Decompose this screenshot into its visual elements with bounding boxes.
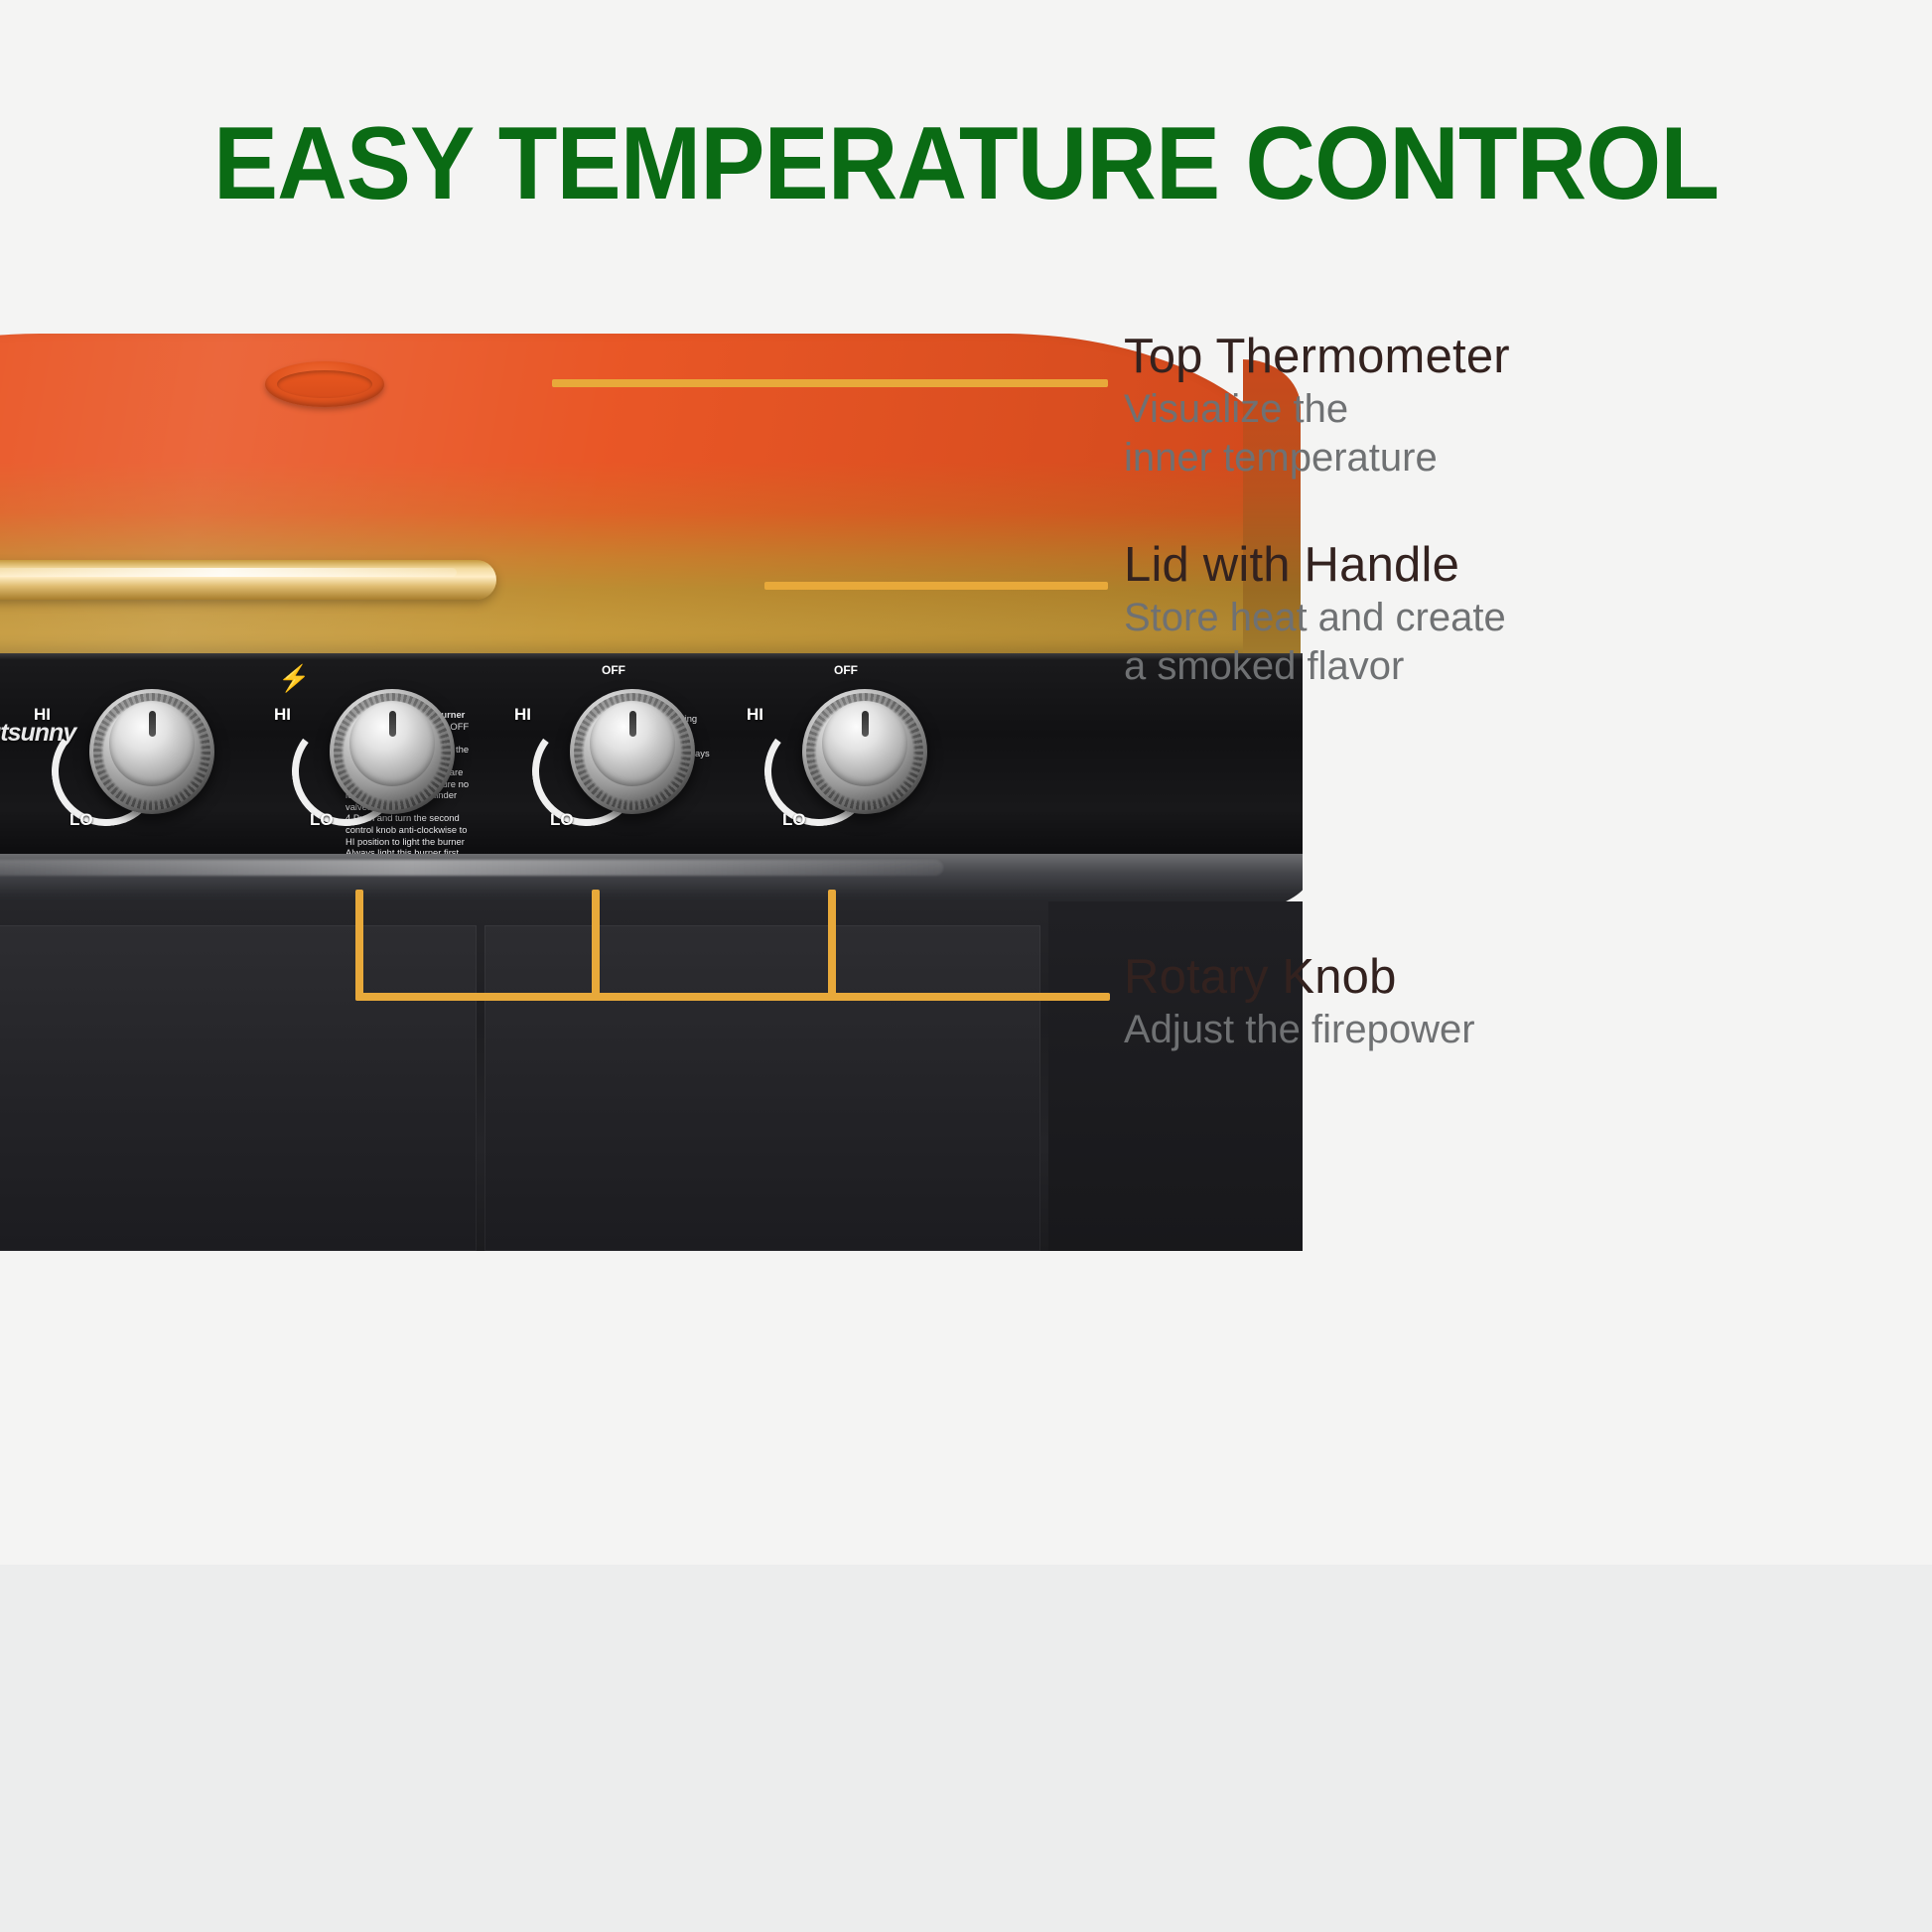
- leader-line-knob-v3: [828, 890, 836, 1001]
- callout-body-line-1: Adjust the firepower: [1124, 1006, 1475, 1054]
- knob-face: [590, 701, 675, 786]
- knob-pointer: [389, 711, 396, 737]
- infographic-canvas: EASY TEMPERATURE CONTROL utsunny easy.: [0, 0, 1932, 1932]
- control-panel-edge: [0, 653, 1303, 660]
- callout-body-line-2: inner temperature: [1124, 434, 1510, 483]
- knob-pointer: [149, 711, 156, 737]
- cart-rail-highlight: [0, 860, 943, 876]
- callout-heading: Rotary Knob: [1124, 948, 1475, 1006]
- page-title: EASY TEMPERATURE CONTROL: [58, 105, 1873, 223]
- rotary-knob-1[interactable]: HI LO: [77, 683, 226, 832]
- cabinet-door-right: [484, 925, 1040, 1251]
- lid-handle: [0, 560, 496, 600]
- callout-top-thermometer: Top Thermometer Visualize the inner temp…: [1124, 328, 1510, 483]
- handle-highlight: [0, 568, 457, 577]
- leader-line-knob-v2: [592, 890, 600, 1001]
- rotary-knob-4[interactable]: OFF HI LO: [790, 683, 939, 832]
- knob-face: [822, 701, 907, 786]
- knob-pointer: [629, 711, 636, 737]
- knob-hi-label: HI: [514, 705, 531, 725]
- callout-body-line-1: Store heat and create: [1124, 594, 1506, 642]
- knob-pointer: [862, 711, 869, 737]
- knob-hi-label: HI: [747, 705, 763, 725]
- knob-hi-label: HI: [274, 705, 291, 725]
- rotary-knob-2[interactable]: ⚡ HI LO: [318, 683, 467, 832]
- leader-line-thermometer: [552, 379, 1108, 387]
- callout-heading: Top Thermometer: [1124, 328, 1510, 385]
- callout-lid-with-handle: Lid with Handle Store heat and create a …: [1124, 536, 1506, 691]
- leader-line-knob-horizontal: [355, 993, 1110, 1001]
- cabinet-door-left: [0, 925, 477, 1251]
- callout-heading: Lid with Handle: [1124, 536, 1506, 594]
- rotary-knob-3[interactable]: OFF HI LO: [558, 683, 707, 832]
- knob-off-label: OFF: [602, 663, 625, 677]
- knob-hi-label: HI: [34, 705, 51, 725]
- leader-line-knob-v1: [355, 890, 363, 1001]
- leader-line-lid-handle: [764, 582, 1108, 590]
- knob-lo-label: LO: [310, 810, 334, 830]
- ignition-spark-icon: ⚡: [278, 663, 310, 694]
- knob-body[interactable]: [802, 689, 927, 814]
- knob-face: [349, 701, 435, 786]
- knob-lo-label: LO: [550, 810, 574, 830]
- knob-lo-label: LO: [69, 810, 93, 830]
- knob-body[interactable]: [89, 689, 214, 814]
- knob-lo-label: LO: [782, 810, 806, 830]
- callout-rotary-knob: Rotary Knob Adjust the firepower: [1124, 948, 1475, 1054]
- cabinet: [0, 901, 1303, 1251]
- knob-face: [109, 701, 195, 786]
- callout-body-line-1: Visualize the: [1124, 385, 1510, 434]
- product-photo: utsunny easy. gloves during use. at the …: [0, 334, 1303, 1251]
- thermometer-bezel-inner: [277, 370, 372, 398]
- knob-body[interactable]: [570, 689, 695, 814]
- knob-off-label: OFF: [834, 663, 858, 677]
- knob-body[interactable]: [330, 689, 455, 814]
- footer-band: [0, 1565, 1932, 1932]
- top-thermometer: [265, 361, 384, 407]
- callout-body-line-2: a smoked flavor: [1124, 642, 1506, 691]
